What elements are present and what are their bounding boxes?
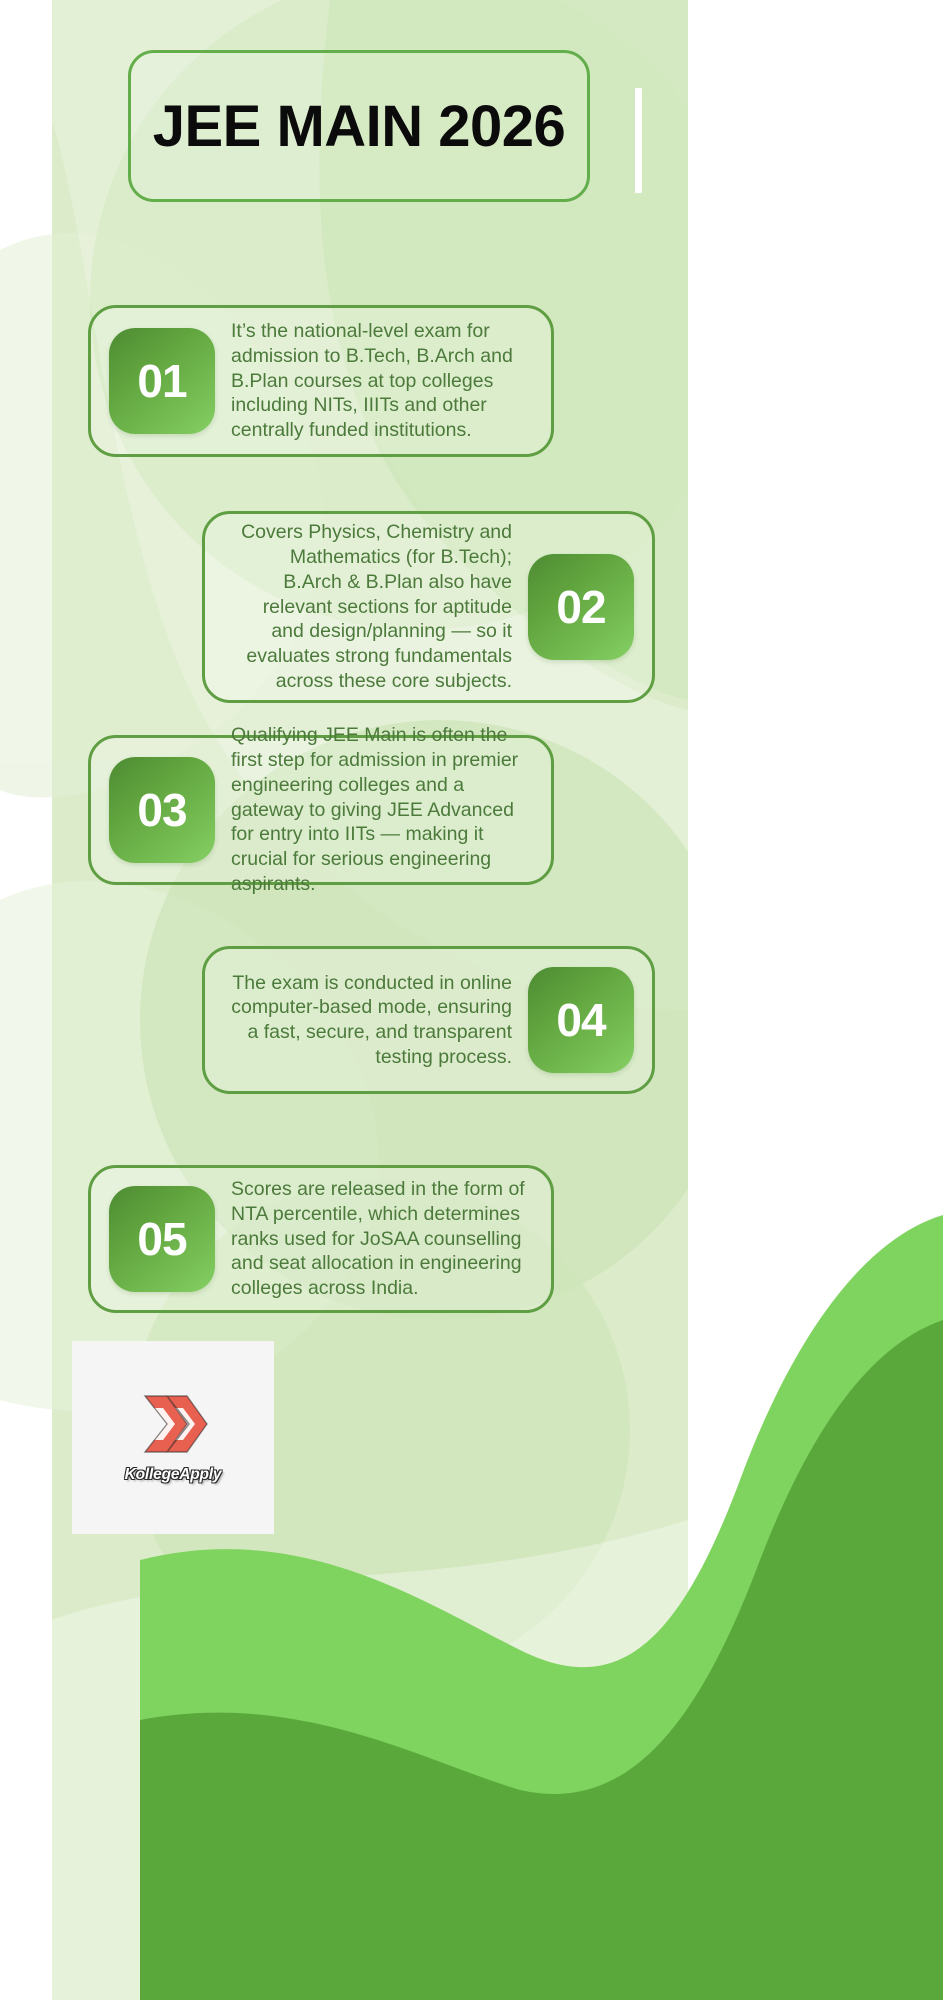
brand-wordmark: KollegeApply xyxy=(125,1466,222,1484)
card-number-badge-01: 01 xyxy=(109,328,215,434)
info-card-01: 01 It’s the national-level exam for admi… xyxy=(88,305,554,457)
card-number-01: 01 xyxy=(137,354,186,408)
info-card-02: 02 Covers Physics, Chemistry and Mathema… xyxy=(202,511,655,703)
card-number-03: 03 xyxy=(137,783,186,837)
card-body-03: Qualifying JEE Main is often the first s… xyxy=(231,723,551,896)
poster-title-box: JEE MAIN 2026 xyxy=(128,50,590,202)
infographic-poster: JEE MAIN 2026 01 It’s the national-level… xyxy=(0,0,943,2000)
card-body-01: It’s the national-level exam for admissi… xyxy=(231,319,551,443)
info-card-05: 05 Scores are released in the form of NT… xyxy=(88,1165,554,1313)
card-body-04: The exam is conducted in online computer… xyxy=(205,971,512,1070)
card-body-02: Covers Physics, Chemistry and Mathematic… xyxy=(205,520,512,693)
info-card-03: 03 Qualifying JEE Main is often the firs… xyxy=(88,735,554,885)
card-number-badge-02: 02 xyxy=(528,554,634,660)
info-card-04: 04 The exam is conducted in online compu… xyxy=(202,946,655,1094)
brand-logo-box: KollegeApply xyxy=(72,1341,274,1534)
page-title: JEE MAIN 2026 xyxy=(153,93,566,160)
card-number-02: 02 xyxy=(556,580,605,634)
card-number-05: 05 xyxy=(137,1212,186,1266)
card-number-badge-04: 04 xyxy=(528,967,634,1073)
card-number-badge-03: 03 xyxy=(109,757,215,863)
card-number-04: 04 xyxy=(556,993,605,1047)
title-accent-bar xyxy=(635,88,642,193)
card-body-05: Scores are released in the form of NTA p… xyxy=(231,1177,551,1301)
double-chevron-icon xyxy=(137,1392,209,1456)
card-number-badge-05: 05 xyxy=(109,1186,215,1292)
